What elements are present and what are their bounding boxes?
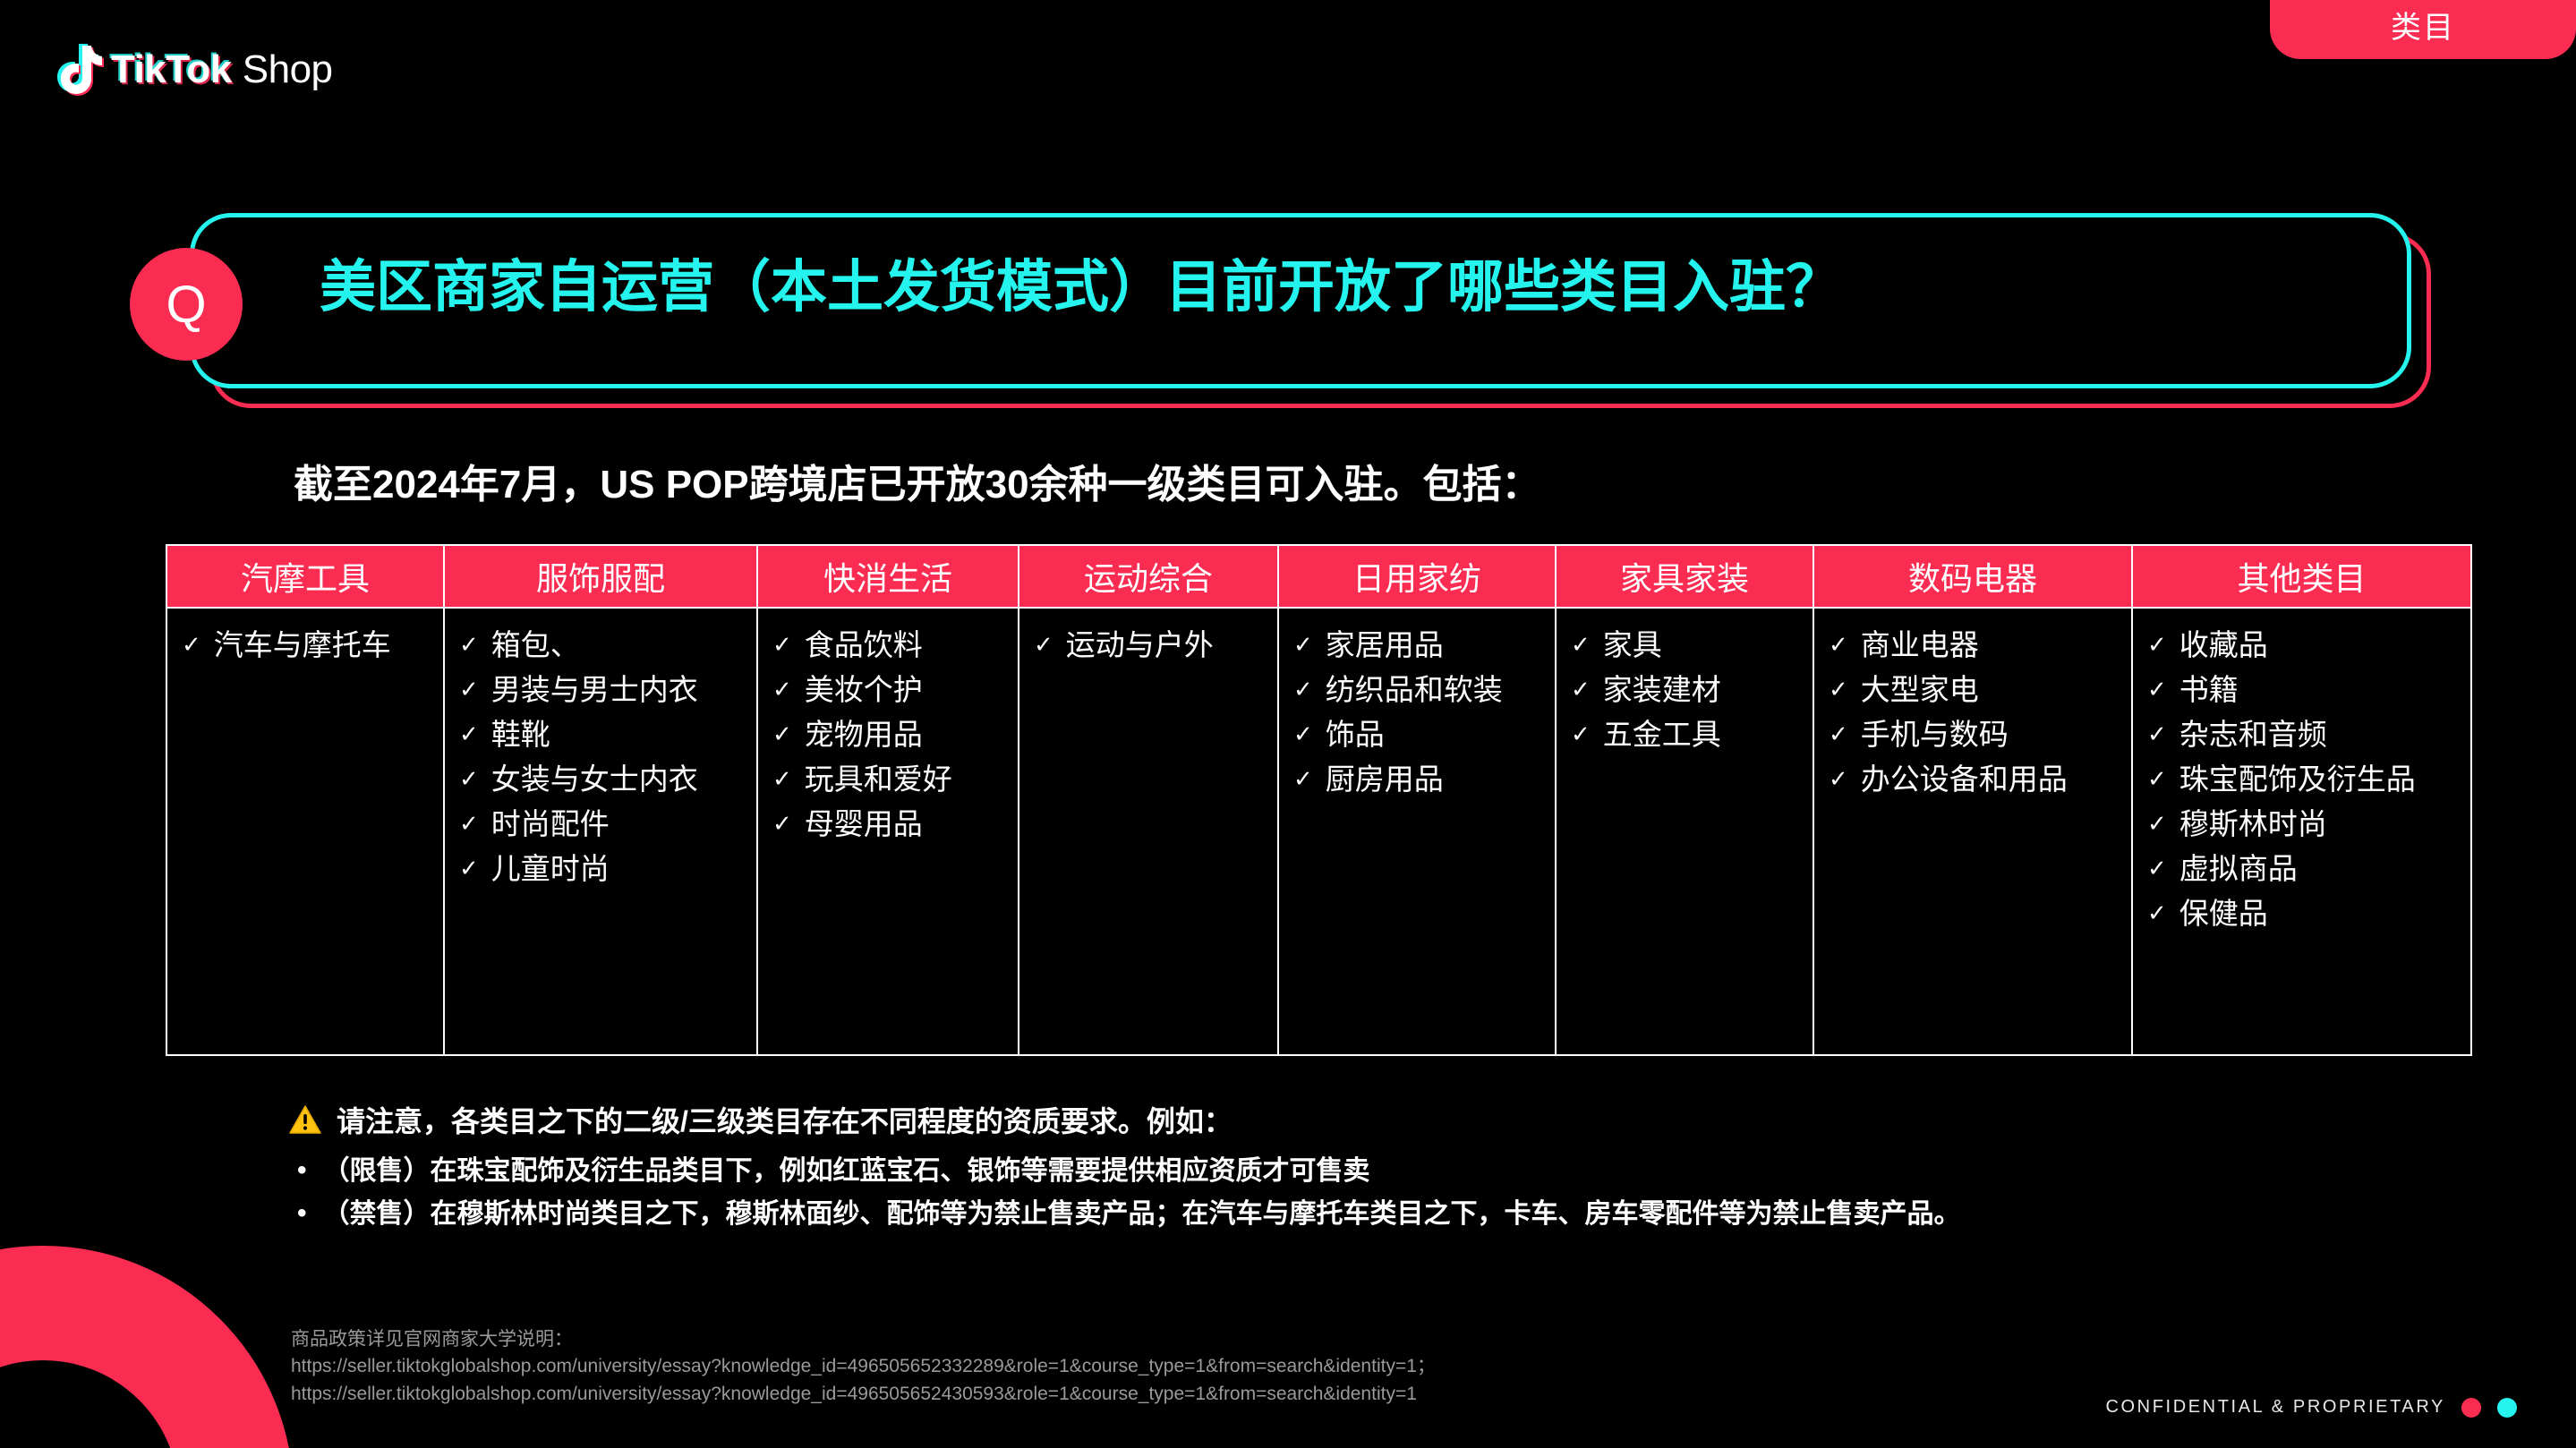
category-item: ✓虚拟商品 — [2142, 847, 2463, 891]
check-icon: ✓ — [1288, 720, 1313, 749]
category-item-label: 女装与女士内衣 — [491, 764, 698, 794]
category-list: ✓食品饮料✓美妆个护✓宠物用品✓玩具和爱好✓母婴用品 — [767, 623, 1011, 847]
bullet-glyph: • — [297, 1195, 307, 1232]
category-item: ✓保健品 — [2142, 891, 2463, 936]
column-header: 家具家装 — [1556, 545, 1813, 608]
footer-link-2[interactable]: https://seller.tiktokglobalshop.com/univ… — [291, 1381, 1436, 1408]
category-item-label: 玩具和爱好 — [805, 764, 952, 794]
category-list: ✓箱包、✓男装与男士内衣✓鞋靴✓女装与女士内衣✓时尚配件✓儿童时尚 — [454, 623, 749, 891]
check-icon: ✓ — [767, 764, 792, 794]
category-badge: 类目 — [2270, 0, 2576, 59]
category-item-label: 家居用品 — [1326, 630, 1444, 660]
category-item: ✓时尚配件 — [454, 802, 749, 847]
category-item-label: 虚拟商品 — [2179, 854, 2298, 883]
check-icon: ✓ — [454, 675, 479, 704]
table-header-row: 汽摩工具 服饰服配 快消生活 运动综合 日用家纺 家具家装 数码电器 其他类目 — [166, 545, 2471, 608]
logo-tiktok-word: TikTok — [111, 50, 232, 89]
check-icon: ✓ — [454, 809, 479, 839]
category-item-label: 时尚配件 — [491, 809, 610, 839]
tiktok-shop-logo: TikTok Shop — [55, 43, 333, 97]
category-item-label: 儿童时尚 — [491, 854, 610, 883]
table-cell: ✓食品饮料✓美妆个护✓宠物用品✓玩具和爱好✓母婴用品 — [757, 608, 1019, 1055]
category-item: ✓珠宝配饰及衍生品 — [2142, 757, 2463, 802]
category-item: ✓手机与数码 — [1823, 712, 2124, 757]
check-icon: ✓ — [1565, 630, 1591, 660]
category-list: ✓商业电器✓大型家电✓手机与数码✓办公设备和用品 — [1823, 623, 2124, 802]
check-icon: ✓ — [454, 720, 479, 749]
category-item-label: 穆斯林时尚 — [2179, 809, 2327, 839]
notes-section: 请注意，各类目之下的二级/三级类目存在不同程度的资质要求。例如： • （限售）在… — [288, 1099, 2490, 1237]
category-item: ✓饰品 — [1288, 712, 1548, 757]
column-header: 日用家纺 — [1278, 545, 1556, 608]
category-item-label: 五金工具 — [1603, 720, 1721, 749]
confidential-text: CONFIDENTIAL & PROPRIETARY — [2105, 1397, 2445, 1418]
category-item: ✓书籍 — [2142, 668, 2463, 712]
category-item-label: 运动与户外 — [1066, 630, 1214, 660]
table-cell: ✓汽车与摩托车 — [166, 608, 444, 1055]
note-bullet-text: （限售）在珠宝配饰及衍生品类目下，例如红蓝宝石、银饰等需要提供相应资质才可售卖 — [323, 1152, 1370, 1191]
column-header: 快消生活 — [757, 545, 1019, 608]
category-item: ✓美妆个护 — [767, 668, 1011, 712]
category-item-label: 美妆个护 — [805, 675, 923, 704]
column-header: 服饰服配 — [444, 545, 757, 608]
category-item-label: 厨房用品 — [1326, 764, 1444, 794]
category-item-label: 鞋靴 — [491, 720, 550, 749]
check-icon: ✓ — [2142, 675, 2167, 704]
table-cell: ✓运动与户外 — [1019, 608, 1278, 1055]
category-item: ✓五金工具 — [1565, 712, 1805, 757]
check-icon: ✓ — [2142, 854, 2167, 883]
category-list: ✓家具✓家装建材✓五金工具 — [1565, 623, 1805, 757]
category-item: ✓女装与女士内衣 — [454, 757, 749, 802]
check-icon: ✓ — [1823, 675, 1848, 704]
category-list: ✓汽车与摩托车 — [176, 623, 436, 668]
category-item: ✓厨房用品 — [1288, 757, 1548, 802]
note-bullet-text: （禁售）在穆斯林时尚类目之下，穆斯林面纱、配饰等为禁止售卖产品；在汽车与摩托车类… — [323, 1195, 1961, 1234]
category-list: ✓运动与户外 — [1028, 623, 1270, 668]
category-item-label: 饰品 — [1326, 720, 1385, 749]
category-item-label: 手机与数码 — [1861, 720, 2009, 749]
category-item-label: 书籍 — [2179, 675, 2239, 704]
category-list: ✓收藏品✓书籍✓杂志和音频✓珠宝配饰及衍生品✓穆斯林时尚✓虚拟商品✓保健品 — [2142, 623, 2463, 936]
footer-links-caption: 商品政策详见官网商家大学说明： — [291, 1326, 1436, 1353]
footer-links: 商品政策详见官网商家大学说明： https://seller.tiktokglo… — [291, 1326, 1436, 1408]
check-icon: ✓ — [767, 720, 792, 749]
category-item-label: 家具 — [1603, 630, 1662, 660]
category-item: ✓食品饮料 — [767, 623, 1011, 668]
check-icon: ✓ — [1823, 764, 1848, 794]
check-icon: ✓ — [2142, 809, 2167, 839]
check-icon: ✓ — [1565, 720, 1591, 749]
category-item: ✓家居用品 — [1288, 623, 1548, 668]
question-marker-letter: Q — [166, 275, 206, 335]
column-header: 汽摩工具 — [166, 545, 444, 608]
category-table: 汽摩工具 服饰服配 快消生活 运动综合 日用家纺 家具家装 数码电器 其他类目 … — [166, 544, 2472, 1056]
column-header: 数码电器 — [1813, 545, 2132, 608]
category-item: ✓鞋靴 — [454, 712, 749, 757]
check-icon: ✓ — [1288, 630, 1313, 660]
table-cell: ✓家居用品✓纺织品和软装✓饰品✓厨房用品 — [1278, 608, 1556, 1055]
category-item: ✓穆斯林时尚 — [2142, 802, 2463, 847]
category-item: ✓汽车与摩托车 — [176, 623, 436, 668]
check-icon: ✓ — [767, 809, 792, 839]
check-icon: ✓ — [2142, 899, 2167, 928]
category-item: ✓家装建材 — [1565, 668, 1805, 712]
pink-dot-icon — [2461, 1398, 2481, 1418]
category-item: ✓玩具和爱好 — [767, 757, 1011, 802]
check-icon: ✓ — [454, 854, 479, 883]
category-item-label: 珠宝配饰及衍生品 — [2179, 764, 2416, 794]
decorative-ring — [0, 1246, 294, 1448]
check-icon: ✓ — [1288, 675, 1313, 704]
check-icon: ✓ — [767, 630, 792, 660]
category-item-label: 汽车与摩托车 — [214, 630, 391, 660]
column-header: 运动综合 — [1019, 545, 1278, 608]
category-item-label: 商业电器 — [1861, 630, 1979, 660]
note-bullet: • （禁售）在穆斯林时尚类目之下，穆斯林面纱、配饰等为禁止售卖产品；在汽车与摩托… — [288, 1195, 2490, 1234]
category-item-label: 纺织品和软装 — [1326, 675, 1503, 704]
check-icon: ✓ — [2142, 630, 2167, 660]
category-item: ✓宠物用品 — [767, 712, 1011, 757]
check-icon: ✓ — [767, 675, 792, 704]
check-icon: ✓ — [1823, 720, 1848, 749]
warning-triangle-icon — [288, 1104, 322, 1135]
bullet-glyph: • — [297, 1152, 307, 1189]
category-item-label: 箱包、 — [491, 630, 580, 660]
column-header: 其他类目 — [2132, 545, 2471, 608]
footer-link-1[interactable]: https://seller.tiktokglobalshop.com/univ… — [291, 1353, 1436, 1380]
check-icon: ✓ — [176, 630, 201, 660]
category-item: ✓运动与户外 — [1028, 623, 1270, 668]
category-badge-label: 类目 — [2391, 3, 2455, 47]
table-body-row: ✓汽车与摩托车 ✓箱包、✓男装与男士内衣✓鞋靴✓女装与女士内衣✓时尚配件✓儿童时… — [166, 608, 2471, 1055]
logo-shop-word: Shop — [243, 50, 333, 89]
check-icon: ✓ — [2142, 764, 2167, 794]
question-marker-badge: Q — [130, 248, 243, 361]
category-item: ✓箱包、 — [454, 623, 749, 668]
category-item: ✓家具 — [1565, 623, 1805, 668]
question-banner: Q 美区商家自运营（本土发货模式）目前开放了哪些类目入驻？ — [190, 213, 2431, 408]
table-cell: ✓箱包、✓男装与男士内衣✓鞋靴✓女装与女士内衣✓时尚配件✓儿童时尚 — [444, 608, 757, 1055]
check-icon: ✓ — [1823, 630, 1848, 660]
tiktok-note-icon — [55, 44, 104, 96]
question-banner-frame: Q 美区商家自运营（本土发货模式）目前开放了哪些类目入驻？ — [190, 213, 2411, 388]
check-icon: ✓ — [2142, 720, 2167, 749]
warning-note-text: 请注意，各类目之下的二级/三级类目存在不同程度的资质要求。例如： — [337, 1099, 1233, 1140]
category-item: ✓杂志和音频 — [2142, 712, 2463, 757]
category-item-label: 母婴用品 — [805, 809, 923, 839]
confidential-footer: CONFIDENTIAL & PROPRIETARY — [2105, 1397, 2517, 1418]
category-item: ✓儿童时尚 — [454, 847, 749, 891]
category-item: ✓商业电器 — [1823, 623, 2124, 668]
category-item-label: 男装与男士内衣 — [491, 675, 698, 704]
category-item: ✓办公设备和用品 — [1823, 757, 2124, 802]
note-bullet: • （限售）在珠宝配饰及衍生品类目下，例如红蓝宝石、银饰等需要提供相应资质才可售… — [288, 1152, 2490, 1191]
check-icon: ✓ — [454, 630, 479, 660]
check-icon: ✓ — [454, 764, 479, 794]
check-icon: ✓ — [1288, 764, 1313, 794]
check-icon: ✓ — [1028, 630, 1053, 660]
category-item: ✓男装与男士内衣 — [454, 668, 749, 712]
table-cell: ✓家具✓家装建材✓五金工具 — [1556, 608, 1813, 1055]
category-item-label: 大型家电 — [1861, 675, 1979, 704]
warning-note: 请注意，各类目之下的二级/三级类目存在不同程度的资质要求。例如： — [288, 1099, 2490, 1140]
category-item-label: 保健品 — [2179, 899, 2268, 928]
category-item-label: 食品饮料 — [805, 630, 923, 660]
category-item-label: 宠物用品 — [805, 720, 923, 749]
category-list: ✓家居用品✓纺织品和软装✓饰品✓厨房用品 — [1288, 623, 1548, 802]
cyan-dot-icon — [2497, 1398, 2517, 1418]
check-icon: ✓ — [1565, 675, 1591, 704]
slide-root: TikTok Shop 类目 Q 美区商家自运营（本土发货模式）目前开放了哪些类… — [0, 0, 2576, 1448]
category-item: ✓纺织品和软装 — [1288, 668, 1548, 712]
category-item-label: 杂志和音频 — [2179, 720, 2327, 749]
question-title: 美区商家自运营（本土发货模式）目前开放了哪些类目入驻？ — [320, 250, 2369, 326]
table-cell: ✓收藏品✓书籍✓杂志和音频✓珠宝配饰及衍生品✓穆斯林时尚✓虚拟商品✓保健品 — [2132, 608, 2471, 1055]
category-item: ✓收藏品 — [2142, 623, 2463, 668]
category-item-label: 家装建材 — [1603, 675, 1721, 704]
table-cell: ✓商业电器✓大型家电✓手机与数码✓办公设备和用品 — [1813, 608, 2132, 1055]
subtitle-text: 截至2024年7月，US POP跨境店已开放30余种一级类目可入驻。包括： — [294, 452, 1541, 509]
category-item: ✓大型家电 — [1823, 668, 2124, 712]
category-item: ✓母婴用品 — [767, 802, 1011, 847]
category-item-label: 办公设备和用品 — [1861, 764, 2068, 794]
category-item-label: 收藏品 — [2179, 630, 2268, 660]
